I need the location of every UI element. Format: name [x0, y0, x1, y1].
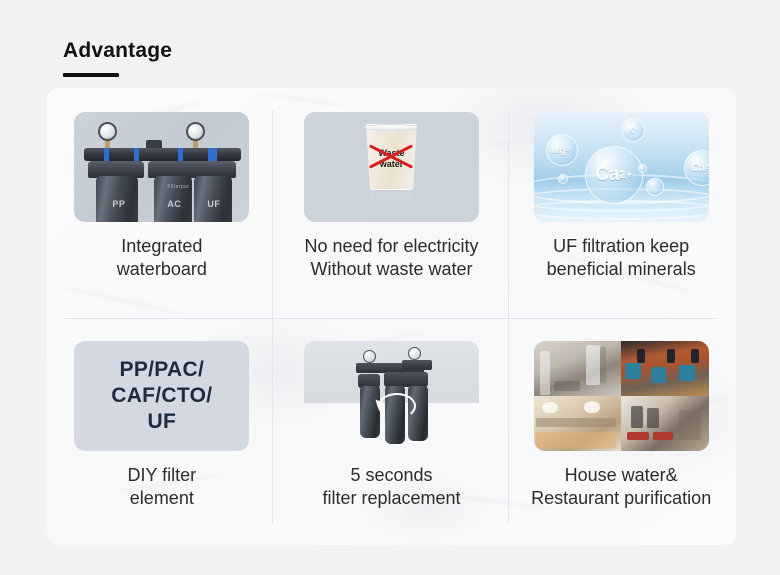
- cell-caption: 5 seconds filter replacement: [322, 464, 460, 510]
- mineral-bubble-label: Ca: [595, 164, 619, 186]
- collage-panel-bakery-counter: [534, 396, 622, 451]
- advantage-card: PP AC UF Filterpur Integrated waterboard: [47, 88, 736, 545]
- mineral-bubble-charge: +: [634, 127, 637, 133]
- page-title: Advantage: [63, 38, 172, 64]
- brand-mark: Filterpur: [167, 184, 189, 190]
- glass-reflection: [370, 192, 412, 205]
- mineral-bubble-label: Ca: [691, 162, 705, 174]
- pressure-gauge-icon: [186, 122, 205, 141]
- advantage-cell-integrated-waterboard: PP AC UF Filterpur Integrated waterboard: [47, 88, 277, 317]
- advantage-cell-uf-minerals: Mg2+ Ca2+ Ca2+ K+: [506, 88, 736, 317]
- filter-media-text-tile: PP/PAC/ CAF/CTO/ UF: [74, 341, 249, 451]
- advantage-grid: PP AC UF Filterpur Integrated waterboard: [47, 88, 736, 545]
- mineral-bubble-charge: 2+: [705, 165, 708, 171]
- pressure-gauge-icon: [408, 347, 421, 360]
- mineral-bubble-charge: 2+: [620, 169, 633, 181]
- filter-replacement-photo: [304, 341, 479, 451]
- cell-caption: No need for electricity Without waste wa…: [304, 235, 478, 281]
- house-restaurant-collage-photo: [534, 341, 709, 451]
- mineral-bubble-label: Mg: [551, 145, 565, 156]
- filter-media-text: PP/PAC/ CAF/CTO/ UF: [111, 357, 212, 435]
- caption-line-1: No need for electricity: [304, 235, 478, 258]
- water-droplet: [638, 164, 647, 173]
- advantage-section: Advantage: [0, 0, 780, 575]
- caption-line-2: filter replacement: [322, 487, 460, 510]
- collage-panel-lobby-interior: [534, 341, 622, 396]
- caption-line-2: Restaurant purification: [531, 487, 711, 510]
- caption-line-1: House water&: [531, 464, 711, 487]
- caption-line-1: DIY filter: [127, 464, 196, 487]
- caption-line-2: waterboard: [117, 258, 207, 281]
- filter-media-line-3: UF: [111, 409, 212, 435]
- mineral-bubble: Mg2+: [546, 134, 578, 166]
- filter-media-line-2: CAF/CTO/: [111, 383, 212, 409]
- caption-line-1: Integrated: [117, 235, 207, 258]
- canister-label-uf: UF: [207, 199, 220, 209]
- mineral-bubble-charge: 2+: [565, 147, 572, 153]
- caption-line-2: beneficial minerals: [547, 258, 696, 281]
- canister-label-pp: PP: [112, 199, 125, 209]
- cell-caption: House water& Restaurant purification: [531, 464, 711, 510]
- advantage-cell-applications: House water& Restaurant purification: [506, 317, 736, 546]
- filter-media-line-1: PP/PAC/: [111, 357, 212, 383]
- title-underline: [63, 73, 119, 77]
- cell-caption: UF filtration keep beneficial minerals: [547, 235, 696, 281]
- advantage-cell-fast-replacement: 5 seconds filter replacement: [277, 317, 507, 546]
- caption-line-2: element: [127, 487, 196, 510]
- mineral-bubble: K+: [621, 118, 645, 142]
- collage-panel-restaurant-seating: [621, 341, 709, 396]
- water-droplet: [558, 174, 568, 184]
- caption-line-1: UF filtration keep: [547, 235, 696, 258]
- caption-line-2: Without waste water: [304, 258, 478, 281]
- mineral-bubble: Ca2+: [585, 146, 643, 204]
- water-droplet: [646, 178, 664, 196]
- waste-water-glass-icon: Waste water: [304, 112, 479, 222]
- cell-caption: DIY filter element: [127, 464, 196, 510]
- advantage-cell-no-electricity: Waste water No need for electricity With…: [277, 88, 507, 317]
- canister-label-ac: AC: [167, 199, 181, 209]
- advantage-cell-diy-filter: PP/PAC/ CAF/CTO/ UF DIY filter element: [47, 317, 277, 546]
- collage-panel-cafe-bar: [621, 396, 709, 451]
- caption-line-1: 5 seconds: [322, 464, 460, 487]
- cell-caption: Integrated waterboard: [117, 235, 207, 281]
- pressure-gauge-icon: [98, 122, 117, 141]
- glass-rim: [364, 124, 418, 131]
- section-heading-group: Advantage: [63, 38, 172, 77]
- pressure-gauge-icon: [363, 350, 376, 363]
- mineral-water-droplets-photo: Mg2+ Ca2+ Ca2+ K+: [534, 112, 709, 222]
- filter-manifold-photo: PP AC UF Filterpur: [74, 112, 249, 222]
